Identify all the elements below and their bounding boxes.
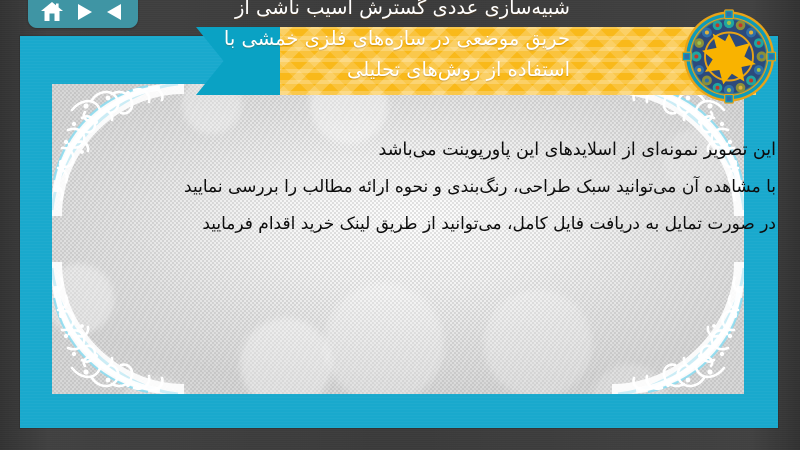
triangle-right-icon[interactable] xyxy=(73,2,95,22)
home-icon[interactable] xyxy=(40,1,64,22)
slide-navigation-bar[interactable] xyxy=(28,0,138,28)
corner-ornament-bottom-left xyxy=(52,262,184,394)
banner-arrow-tail xyxy=(196,27,282,95)
bokeh-circle xyxy=(240,318,332,394)
bokeh-circle xyxy=(114,378,198,394)
bokeh-circle xyxy=(592,364,668,394)
bokeh-circle xyxy=(52,264,114,334)
body-line-2: با مشاهده آن می‌توانید سبک طراحی، رنگ‌بن… xyxy=(60,169,776,206)
slide-viewer: این تصویر نمونه‌ای از اسلایدهای این پاور… xyxy=(0,0,800,450)
slide-body-text: این تصویر نمونه‌ای از اسلایدهای این پاور… xyxy=(60,132,776,243)
bokeh-circle xyxy=(324,284,444,394)
persian-rosette-medallion xyxy=(681,7,777,106)
triangle-left-icon[interactable] xyxy=(104,2,126,22)
corner-ornament-bottom-right xyxy=(612,262,744,394)
body-line-3: در صورت تمایل به دریافت فایل کامل، می‌تو… xyxy=(60,206,776,243)
bokeh-circle xyxy=(484,290,592,394)
title-banner xyxy=(196,0,756,100)
body-line-1: این تصویر نمونه‌ای از اسلایدهای این پاور… xyxy=(60,132,776,169)
